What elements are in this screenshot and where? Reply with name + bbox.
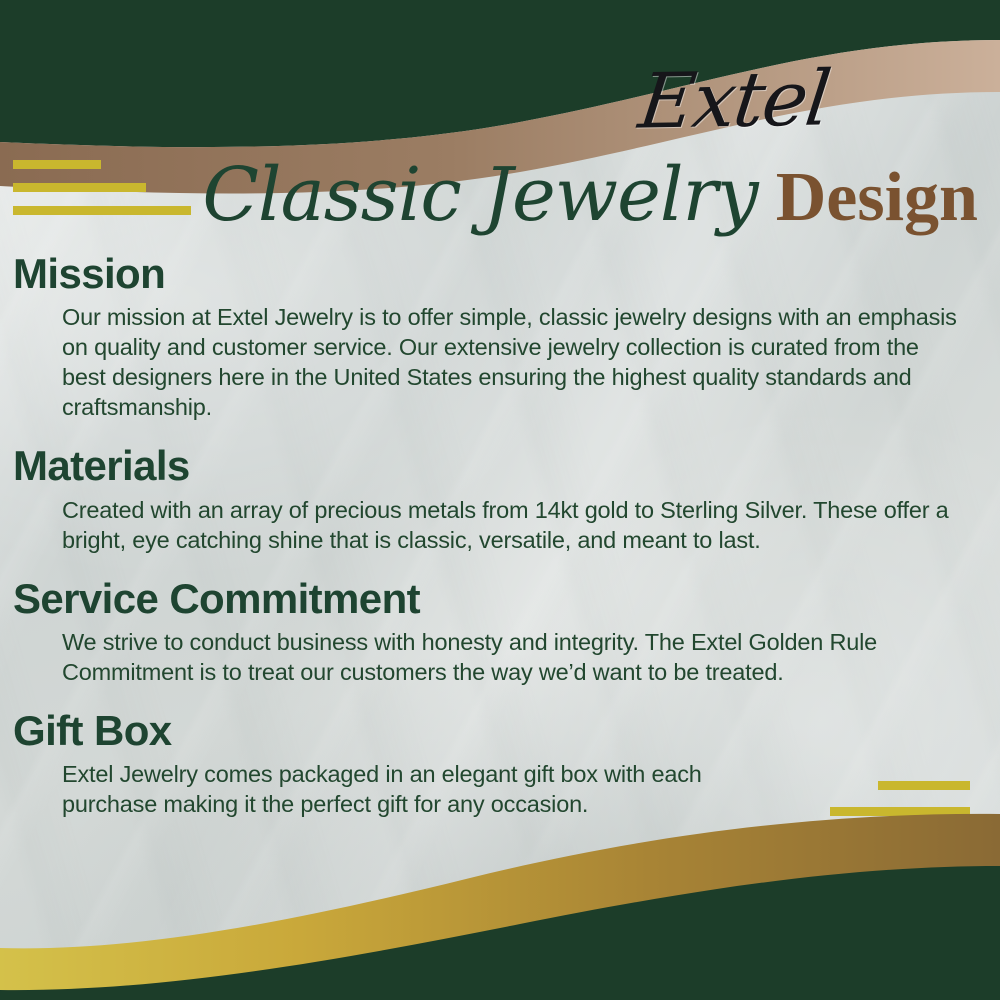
- section-body-mission: Our mission at Extel Jewelry is to offer…: [62, 302, 966, 422]
- section-service-commitment: Service Commitment We strive to conduct …: [0, 577, 1000, 687]
- section-heading-giftbox: Gift Box: [13, 709, 1000, 753]
- title-script-text: Classic Jewelry: [202, 158, 757, 232]
- content-sections: Mission Our mission at Extel Jewelry is …: [0, 252, 1000, 837]
- section-materials: Materials Created with an array of preci…: [0, 444, 1000, 554]
- section-heading-service: Service Commitment: [13, 577, 1000, 621]
- brand-logo: Extel: [635, 60, 833, 139]
- title-serif-text: Design: [776, 163, 978, 233]
- page-title: Classic Jewelry Design: [0, 158, 978, 233]
- poster-canvas: Extel Classic Jewelry Design Mission Our…: [0, 0, 1000, 1000]
- section-heading-materials: Materials: [13, 444, 1000, 488]
- section-body-service: We strive to conduct business with hones…: [62, 627, 966, 687]
- section-body-materials: Created with an array of precious metals…: [62, 495, 966, 555]
- bottom-wave-decoration: [0, 800, 1000, 1000]
- section-heading-mission: Mission: [13, 252, 1000, 296]
- decorative-line: [878, 781, 970, 790]
- section-mission: Mission Our mission at Extel Jewelry is …: [0, 252, 1000, 422]
